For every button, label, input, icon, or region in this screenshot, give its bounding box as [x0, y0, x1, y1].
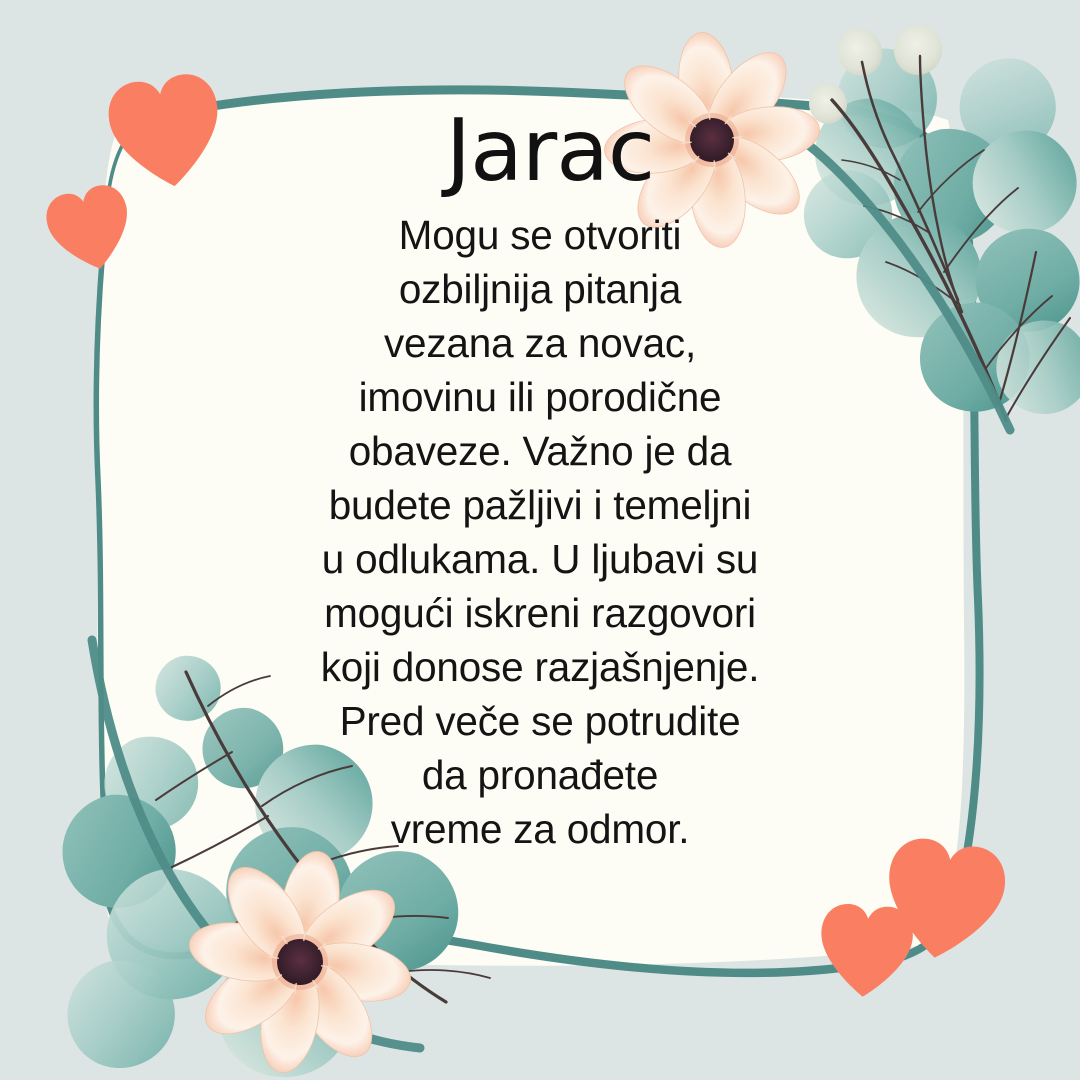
decorative-artwork	[0, 0, 1080, 1080]
heart-bottom-right-lower	[817, 902, 915, 1000]
poster-canvas: Jarac Mogu se otvoritiozbiljnija pitanja…	[0, 0, 1080, 1080]
